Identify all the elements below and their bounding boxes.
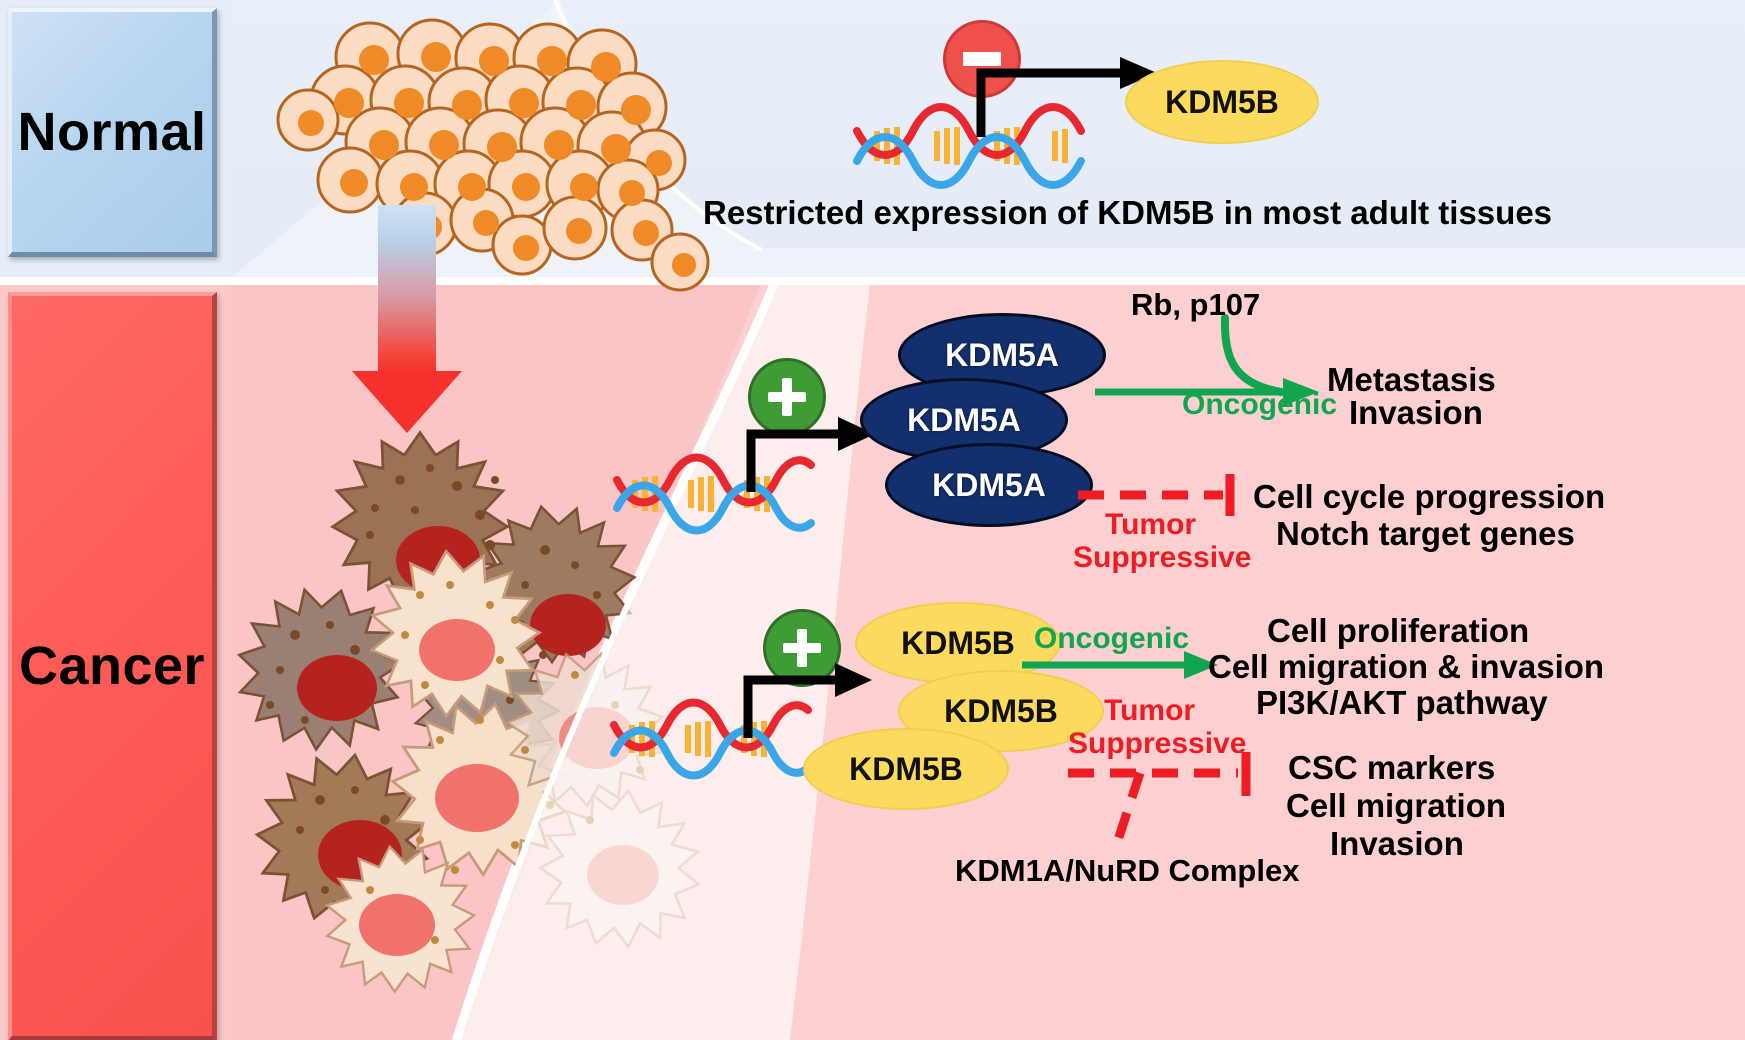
target-invasion-2: Invasion <box>1330 825 1464 863</box>
suppressive-label-kdm5b: Suppressive <box>1068 727 1246 761</box>
target-cell-proliferation: Cell proliferation <box>1267 612 1529 650</box>
oncogenic-label-kdm5a: Oncogenic <box>1182 388 1337 422</box>
target-cell-cycle: Cell cycle progression <box>1253 478 1605 516</box>
protein-label: KDM5A <box>945 337 1059 374</box>
target-cell-migration-invasion: Cell migration & invasion <box>1208 648 1604 686</box>
figure-canvas: Normal Cancer <box>0 0 1745 1040</box>
protein-label: KDM5B <box>1165 84 1279 121</box>
protein-label: KDM5B <box>901 625 1015 662</box>
protein-ellipse-kdm5a-3: KDM5A <box>885 443 1093 527</box>
target-cell-migration: Cell migration <box>1286 787 1506 825</box>
oncogenic-label-kdm5b: Oncogenic <box>1034 622 1189 656</box>
protein-label: KDM5B <box>849 751 963 788</box>
tumor-label-kdm5b: Tumor <box>1104 694 1195 728</box>
protein-ellipse-kdm5b-3: KDM5B <box>803 728 1009 810</box>
protein-ellipse-kdm5b-normal: KDM5B <box>1125 60 1319 144</box>
tumor-label-kdm5a: Tumor <box>1105 508 1196 542</box>
protein-label: KDM5A <box>907 402 1021 439</box>
target-csc-markers: CSC markers <box>1288 749 1495 787</box>
suppressive-label-kdm5a: Suppressive <box>1073 541 1251 575</box>
protein-label: KDM5B <box>944 693 1058 730</box>
target-notch: Notch target genes <box>1276 515 1575 553</box>
complex-label-kdm1a-nurd: KDM1A/NuRD Complex <box>955 853 1299 889</box>
target-pi3k-akt: PI3K/AKT pathway <box>1256 684 1548 722</box>
normal-caption: Restricted expression of KDM5B in most a… <box>703 194 1552 232</box>
target-invasion: Invasion <box>1349 394 1483 432</box>
cofactor-label-rb-p107: Rb, p107 <box>1131 287 1260 323</box>
protein-label: KDM5A <box>932 467 1046 504</box>
